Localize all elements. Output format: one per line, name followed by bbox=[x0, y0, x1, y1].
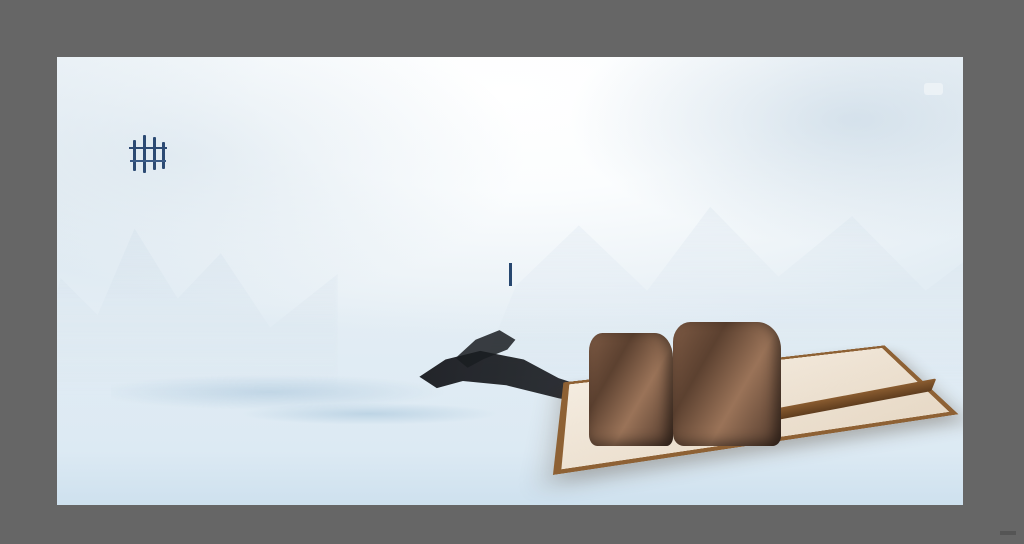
poster-artwork bbox=[57, 57, 963, 505]
brand-logo bbox=[129, 133, 176, 175]
subtitle-divider bbox=[509, 263, 512, 286]
rock-support-right bbox=[673, 322, 781, 446]
mall-logo bbox=[924, 83, 943, 95]
watermark-bar bbox=[0, 505, 1024, 544]
rock-support-left bbox=[589, 333, 672, 446]
screenshot-root bbox=[0, 0, 1024, 544]
brand-mark-icon bbox=[129, 133, 167, 175]
chessboard-stage bbox=[564, 254, 963, 442]
image-id-text bbox=[1000, 531, 1016, 535]
